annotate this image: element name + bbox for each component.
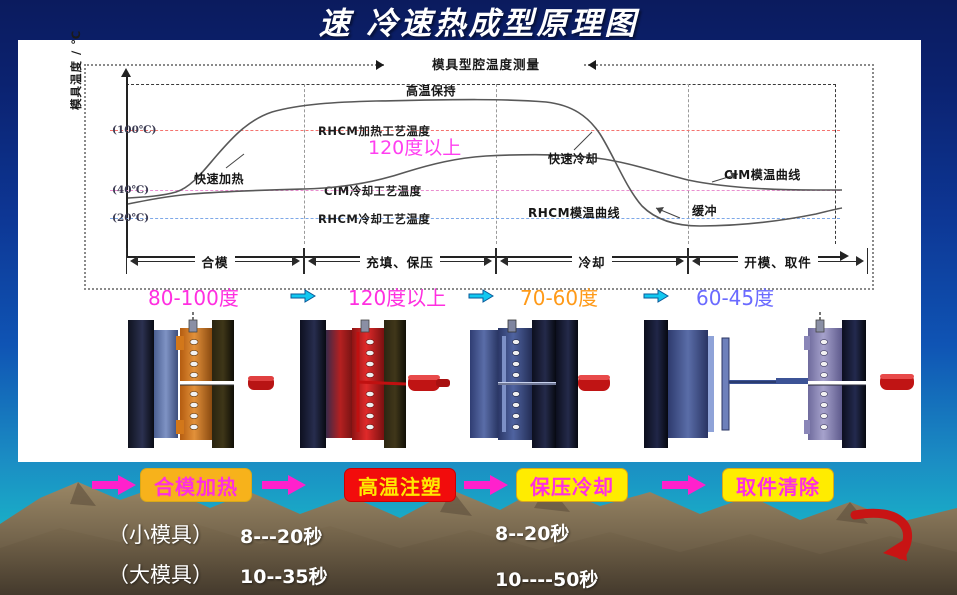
phase-axis: 合模 充填、保压 冷却 开模、取件 [76, 248, 876, 276]
phase-label: 充填、保压 [360, 252, 440, 271]
mold-stage-row [18, 312, 921, 460]
timing-large-mold-label: （大模具） [108, 559, 213, 589]
temp-stage-label-1: 120度以上 [348, 282, 446, 311]
temp-stage-label-0: 80-100度 [148, 282, 239, 311]
phase-label: 冷却 [572, 252, 611, 271]
page-title: 速 冷速热成型原理图 [319, 0, 639, 43]
temperature-stage-row: 80-100度 120度以上 70-60度 60-45度 [18, 282, 921, 312]
phase-arrow-left-icon [130, 256, 138, 266]
annotation-buffer: 缓冲 [692, 202, 717, 219]
cycle-loop-arrow-icon [845, 505, 925, 575]
title-bar: 速 冷速热成型原理图 [0, 0, 957, 40]
phase-segment-0: 合模 [126, 248, 304, 274]
phase-label: 合模 [195, 252, 234, 271]
magenta-arrow-icon-3 [662, 475, 706, 495]
timing-large-mold-time: 10--35秒 [240, 562, 328, 589]
temp-stage-label-3: 60-45度 [696, 282, 774, 311]
annotation-cim-curve: CIM模温曲线 [724, 166, 801, 183]
magenta-arrow-icon-0 [92, 475, 136, 495]
magenta-arrow-icon-2 [464, 475, 508, 495]
magenta-arrow-icon-1 [262, 475, 306, 495]
phase-arrow-left-icon [692, 256, 700, 266]
phase-arrow-left-icon [500, 256, 508, 266]
mold-stage-0 [124, 312, 280, 457]
mold-stage-3 [628, 312, 784, 457]
timing-small-mold-label: （小模具） [108, 519, 213, 549]
timing-cool-large-time: 10----50秒 [495, 565, 598, 592]
cyan-arrow-icon-1 [468, 288, 494, 304]
mold-stage-1 [296, 312, 452, 457]
annotation-fast-cool: 快速冷却 [548, 150, 598, 167]
cyan-arrow-icon-2 [643, 288, 669, 304]
flow-box-2[interactable]: 保压冷却 [516, 468, 628, 502]
phase-arrow-right-icon [856, 256, 864, 266]
flow-box-1[interactable]: 高温注塑 [344, 468, 456, 502]
flow-box-0[interactable]: 合模加热 [140, 468, 252, 502]
timing-small-mold-time: 8---20秒 [240, 522, 322, 549]
phase-arrow-left-icon [308, 256, 316, 266]
phase-segment-2: 冷却 [496, 248, 688, 274]
annotation-hold-high: 高温保持 [406, 82, 456, 99]
content-panel: 模具型腔温度测量 模具温度 / ℃ (100℃) (40℃) (20℃) RHC… [18, 40, 921, 462]
phase-label: 开模、取件 [738, 252, 818, 271]
phase-segment-1: 充填、保压 [304, 248, 496, 274]
annotation-highlight-120: 120度以上 [368, 133, 461, 160]
cyan-arrow-icon-0 [290, 288, 316, 304]
flow-box-3[interactable]: 取件清除 [722, 468, 834, 502]
annotation-rhcm-curve: RHCM模温曲线 [528, 204, 620, 221]
phase-arrow-right-icon [676, 256, 684, 266]
phase-arrow-right-icon [484, 256, 492, 266]
annotation-fast-heat: 快速加热 [194, 170, 244, 187]
temp-stage-label-2: 70-60度 [520, 282, 598, 311]
process-flow-row: 合模加热 高温注塑 保压冷却 取件清除 [0, 468, 957, 508]
phase-arrow-right-icon [292, 256, 300, 266]
phase-segment-3: 开模、取件 [688, 248, 868, 274]
timing-cool-small-time: 8--20秒 [495, 519, 569, 546]
mold-stage-2 [468, 312, 624, 457]
mold-stage-4 [776, 312, 932, 457]
